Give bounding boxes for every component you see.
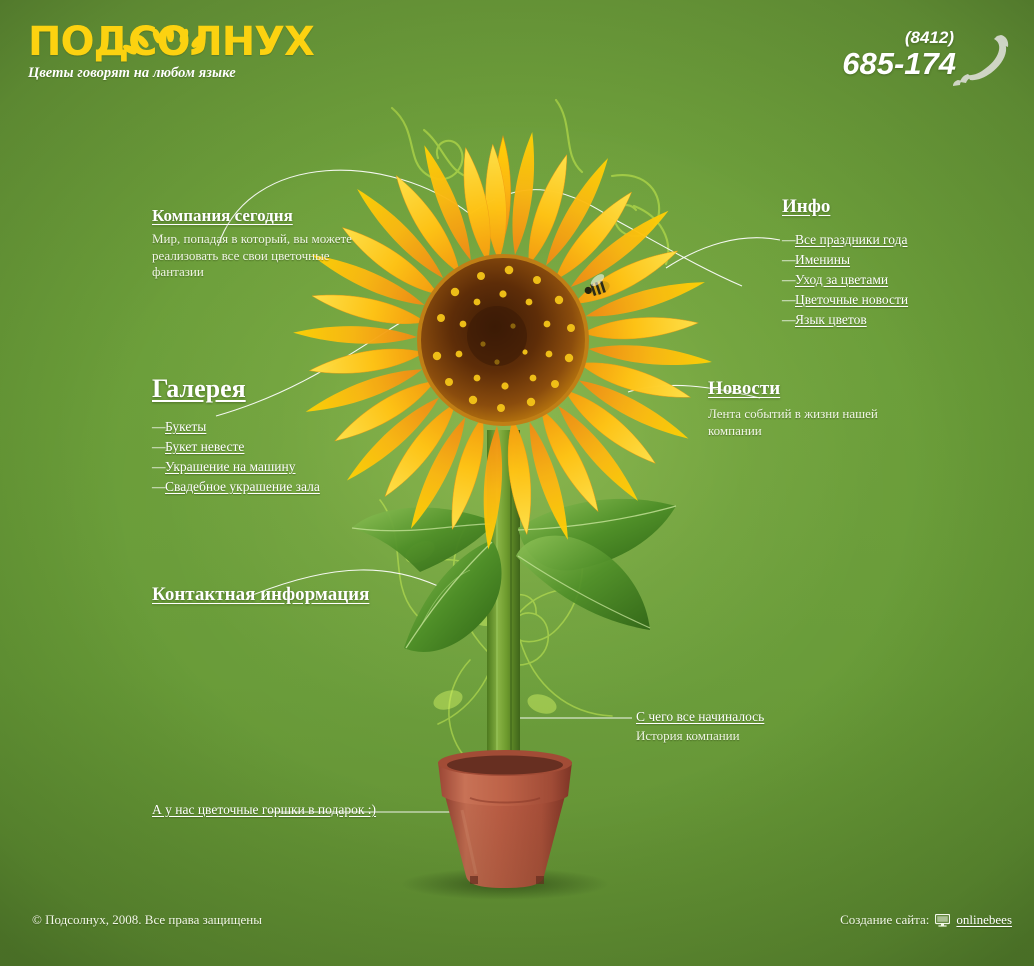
sun-rays-icon bbox=[133, 27, 203, 53]
history-subtitle: История компании bbox=[636, 727, 866, 744]
list-item: —Букет невесте bbox=[152, 438, 392, 458]
gallery-link-bridal-bouquet[interactable]: Букет невесте bbox=[165, 439, 244, 454]
block-info: Инфо —Все праздники года —Именины —Уход … bbox=[782, 195, 982, 331]
heading-gallery[interactable]: Галерея bbox=[152, 374, 392, 404]
info-link-list: —Все праздники года —Именины —Уход за цв… bbox=[782, 231, 982, 331]
gallery-link-list: —Букеты —Букет невесте —Украшение на маш… bbox=[152, 418, 392, 498]
info-link-all-holidays[interactable]: Все праздники года bbox=[795, 232, 907, 247]
dash-bullet: — bbox=[152, 418, 165, 436]
list-item: —Свадебное украшение зала bbox=[152, 478, 392, 498]
list-item: —Все праздники года bbox=[782, 231, 982, 251]
heading-company-today[interactable]: Компания сегодня bbox=[152, 205, 357, 226]
dash-bullet: — bbox=[782, 271, 795, 289]
monitor-icon bbox=[935, 914, 950, 927]
company-today-description: Мир, попадая в который, вы можете реализ… bbox=[152, 231, 357, 281]
phone-area-code: (8412) bbox=[842, 28, 954, 47]
block-company-today: Компания сегодня Мир, попадая в который,… bbox=[152, 205, 357, 281]
site-header: ПОДСОЛНУХ Цветы говорят на любом языке (… bbox=[0, 0, 1034, 110]
site-logo[interactable]: ПОДСОЛНУХ Цветы говорят на любом языке bbox=[28, 22, 328, 82]
phone-block: (8412) 685-174 bbox=[842, 28, 1010, 80]
info-link-name-days[interactable]: Именины bbox=[795, 252, 850, 267]
heading-contact-information[interactable]: Контактная информация bbox=[152, 583, 369, 607]
dash-bullet: — bbox=[782, 231, 795, 249]
dash-bullet: — bbox=[782, 251, 795, 269]
block-contacts: Контактная информация bbox=[152, 583, 369, 607]
block-pots-promo: А у нас цветочные горшки в подарок :) bbox=[152, 801, 376, 818]
page-root: ПОДСОЛНУХ Цветы говорят на любом языке (… bbox=[0, 0, 1034, 966]
heading-news[interactable]: Новости bbox=[708, 377, 898, 401]
list-item: —Украшение на машину bbox=[152, 458, 392, 478]
site-credit: Создание сайта: onlinebees bbox=[840, 912, 1012, 928]
info-link-flower-language[interactable]: Язык цветов bbox=[795, 312, 867, 327]
list-item: —Цветочные новости bbox=[782, 291, 982, 311]
pots-promo-link[interactable]: А у нас цветочные горшки в подарок :) bbox=[152, 801, 376, 818]
list-item: —Букеты bbox=[152, 418, 392, 438]
credit-label: Создание сайта: bbox=[840, 912, 929, 928]
phone-handset-icon bbox=[952, 34, 1012, 86]
block-gallery: Галерея —Букеты —Букет невесте —Украшени… bbox=[152, 374, 392, 498]
block-news: Новости Лента событий в жизни нашей комп… bbox=[708, 377, 898, 439]
gallery-link-wedding-hall-decoration[interactable]: Свадебное украшение зала bbox=[165, 479, 320, 494]
news-description: Лента событий в жизни нашей компании bbox=[708, 406, 898, 439]
gallery-link-car-decoration[interactable]: Украшение на машину bbox=[165, 459, 296, 474]
phone-number: 685-174 bbox=[842, 47, 956, 80]
dash-bullet: — bbox=[152, 438, 165, 456]
site-footer: © Подсолнух, 2008. Все права защищены Со… bbox=[0, 896, 1034, 966]
history-link[interactable]: С чего все начиналось bbox=[636, 708, 866, 725]
logo-tagline: Цветы говорят на любом языке bbox=[28, 65, 328, 82]
copyright-text: © Подсолнух, 2008. Все права защищены bbox=[32, 912, 262, 928]
info-link-flower-news[interactable]: Цветочные новости bbox=[795, 292, 908, 307]
list-item: —Уход за цветами bbox=[782, 271, 982, 291]
heading-info[interactable]: Инфо bbox=[782, 195, 982, 219]
list-item: —Язык цветов bbox=[782, 311, 982, 331]
block-history: С чего все начиналось История компании bbox=[636, 708, 866, 744]
dash-bullet: — bbox=[782, 291, 795, 309]
credit-link-onlinebees[interactable]: onlinebees bbox=[956, 912, 1012, 928]
dash-bullet: — bbox=[152, 478, 165, 496]
dash-bullet: — bbox=[152, 458, 165, 476]
gallery-link-bouquets[interactable]: Букеты bbox=[165, 419, 206, 434]
list-item: —Именины bbox=[782, 251, 982, 271]
info-link-flower-care[interactable]: Уход за цветами bbox=[795, 272, 888, 287]
dash-bullet: — bbox=[782, 311, 795, 329]
